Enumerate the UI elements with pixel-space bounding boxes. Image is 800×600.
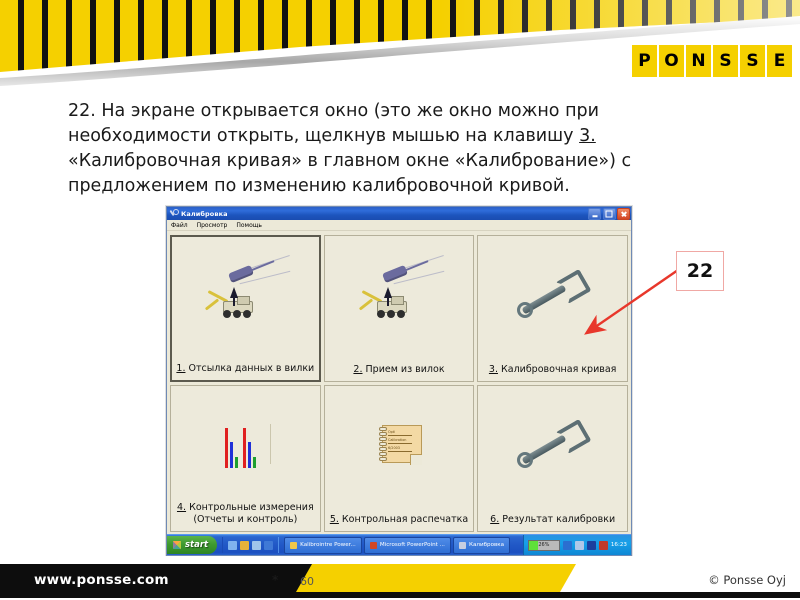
logo-letter-o: O — [659, 45, 684, 77]
minimize-button[interactable] — [588, 208, 601, 220]
paragraph-part-1: 22. На экране открывается окно (это же о… — [68, 101, 599, 146]
app-menubar: Файл Просмотр Помощь — [167, 220, 631, 231]
logo-letter-s1: S — [713, 45, 738, 77]
caliper-and-harvester-icon — [325, 236, 474, 351]
taskbar-item-label: Microsoft PowerPoint ... — [380, 542, 445, 548]
panel-label: 3. Калибровочная кривая — [478, 364, 627, 381]
logo-letter-p: P — [632, 45, 657, 77]
panel-title: Калибровочная кривая — [501, 364, 616, 375]
taskbar-item-1[interactable]: Kalibrointre Power... — [284, 537, 362, 554]
calibration-app-screenshot: Калибровка Файл Просмотр Помощь — [166, 206, 632, 556]
app-titlebar: Калибровка — [167, 207, 631, 220]
panel-key: 2. — [353, 364, 362, 375]
callout-step-number-box: 22 — [676, 251, 724, 291]
start-label: start — [185, 540, 208, 550]
paragraph-part-2: «Калибровочная кривая» в главном окне «К… — [68, 151, 631, 196]
windows-flag-icon — [173, 541, 181, 549]
panel-key: 1. — [176, 363, 185, 374]
panel-label: 1. Отсылка данных в вилки — [172, 363, 319, 380]
menu-item-help[interactable]: Помощь — [236, 222, 262, 229]
footer-star: * — [272, 573, 278, 587]
system-tray: 26% 16:23 — [523, 535, 631, 555]
quick-launch-icon-2[interactable] — [240, 541, 249, 550]
panel-control-measurements[interactable]: 4. Контрольные измерения (Отчеты и контр… — [170, 385, 321, 532]
window-controls — [588, 208, 630, 220]
bar-chart-icon — [171, 386, 320, 501]
footer-copyright: © Ponsse Oyj — [708, 573, 786, 587]
caliper-and-harvester-icon — [172, 237, 319, 350]
windows-taskbar: start Kalibrointre Power... Microsoft Po… — [167, 534, 631, 555]
panel-label: 5. Контрольная распечатка — [325, 514, 474, 531]
panel-calibration-result[interactable]: 6. Результат калибровки — [477, 385, 628, 532]
panel-key: 5. — [330, 514, 339, 525]
doc-line-3: 6/2003 — [388, 446, 400, 450]
panel-title: Прием из вилок — [366, 364, 445, 375]
calibration-panel-grid: 1. Отсылка данных в вилки — [167, 232, 631, 535]
logo-letter-e: E — [767, 45, 792, 77]
panel-title: Контрольные измерения (Отчеты и контроль… — [189, 502, 314, 525]
volume-icon[interactable] — [563, 541, 572, 550]
taskbar-item-3[interactable]: Калибровка — [453, 537, 510, 554]
doc-line-2: Calibration — [388, 438, 406, 442]
wrench-icon — [478, 386, 627, 501]
quick-launch-icon-1[interactable] — [228, 541, 237, 550]
shield-icon[interactable] — [587, 541, 596, 550]
quick-launch-icon-3[interactable] — [252, 541, 261, 550]
folder-icon — [290, 542, 297, 549]
panel-calibration-curve[interactable]: 3. Калибровочная кривая — [477, 235, 628, 382]
network-icon[interactable] — [575, 541, 584, 550]
instruction-paragraph: 22. На экране открывается окно (это же о… — [68, 99, 668, 199]
panel-title: Контрольная распечатка — [342, 514, 468, 525]
wrench-icon — [459, 542, 466, 549]
menu-item-view[interactable]: Просмотр — [197, 222, 228, 229]
taskbar-item-2[interactable]: Microsoft PowerPoint ... — [364, 537, 451, 554]
wrench-icon — [478, 236, 627, 351]
battery-percent: 26% — [529, 541, 559, 550]
panel-send-data-to-calipers[interactable]: 1. Отсылка данных в вилки — [170, 235, 321, 382]
footer: www.ponsse.com * 60 © Ponsse Oyj — [0, 556, 800, 600]
app-window-title: Калибровка — [181, 210, 228, 218]
battery-indicator[interactable]: 26% — [528, 540, 560, 551]
panel-label: 4. Контрольные измерения (Отчеты и контр… — [171, 502, 320, 531]
taskbar-task-list: Kalibrointre Power... Microsoft PowerPoi… — [279, 537, 523, 554]
panel-key: 4. — [177, 502, 186, 513]
footer-page-number: 60 — [300, 575, 314, 588]
taskbar-item-label: Калибровка — [469, 542, 504, 548]
quick-launch-expand-icon[interactable] — [264, 541, 273, 550]
panel-label: 6. Результат калибровки — [478, 514, 627, 531]
panel-receive-from-calipers[interactable]: 2. Прием из вилок — [324, 235, 475, 382]
taskbar-clock: 16:23 — [611, 542, 627, 548]
start-button[interactable]: start — [167, 536, 217, 554]
wrench-title-icon — [169, 209, 178, 218]
panel-title: Отсылка данных в вилки — [189, 363, 315, 374]
ponsse-logo: P O N S S E — [632, 45, 792, 77]
callout-number: 22 — [687, 260, 713, 282]
maximize-button[interactable] — [603, 208, 616, 220]
logo-letter-s2: S — [740, 45, 765, 77]
taskbar-item-label: Kalibrointre Power... — [300, 542, 356, 548]
doc-line-1: Opti — [388, 430, 395, 434]
panel-title: Результат калибровки — [502, 514, 615, 525]
panel-label: 2. Прием из вилок — [325, 364, 474, 381]
panel-key: 6. — [490, 514, 499, 525]
footer-website-url[interactable]: www.ponsse.com — [34, 572, 169, 588]
notepad-document-icon: Opti Calibration 6/2003 — [325, 386, 474, 501]
quick-launch-bar — [222, 537, 279, 553]
powerpoint-icon — [370, 542, 377, 549]
paragraph-key-reference: 3. — [579, 126, 596, 146]
close-icon[interactable] — [617, 208, 630, 220]
panel-key: 3. — [489, 364, 498, 375]
tray-app-icon[interactable] — [599, 541, 608, 550]
menu-item-file[interactable]: Файл — [171, 222, 188, 229]
panel-control-printout[interactable]: Opti Calibration 6/2003 — [324, 385, 475, 532]
logo-letter-n: N — [686, 45, 711, 77]
